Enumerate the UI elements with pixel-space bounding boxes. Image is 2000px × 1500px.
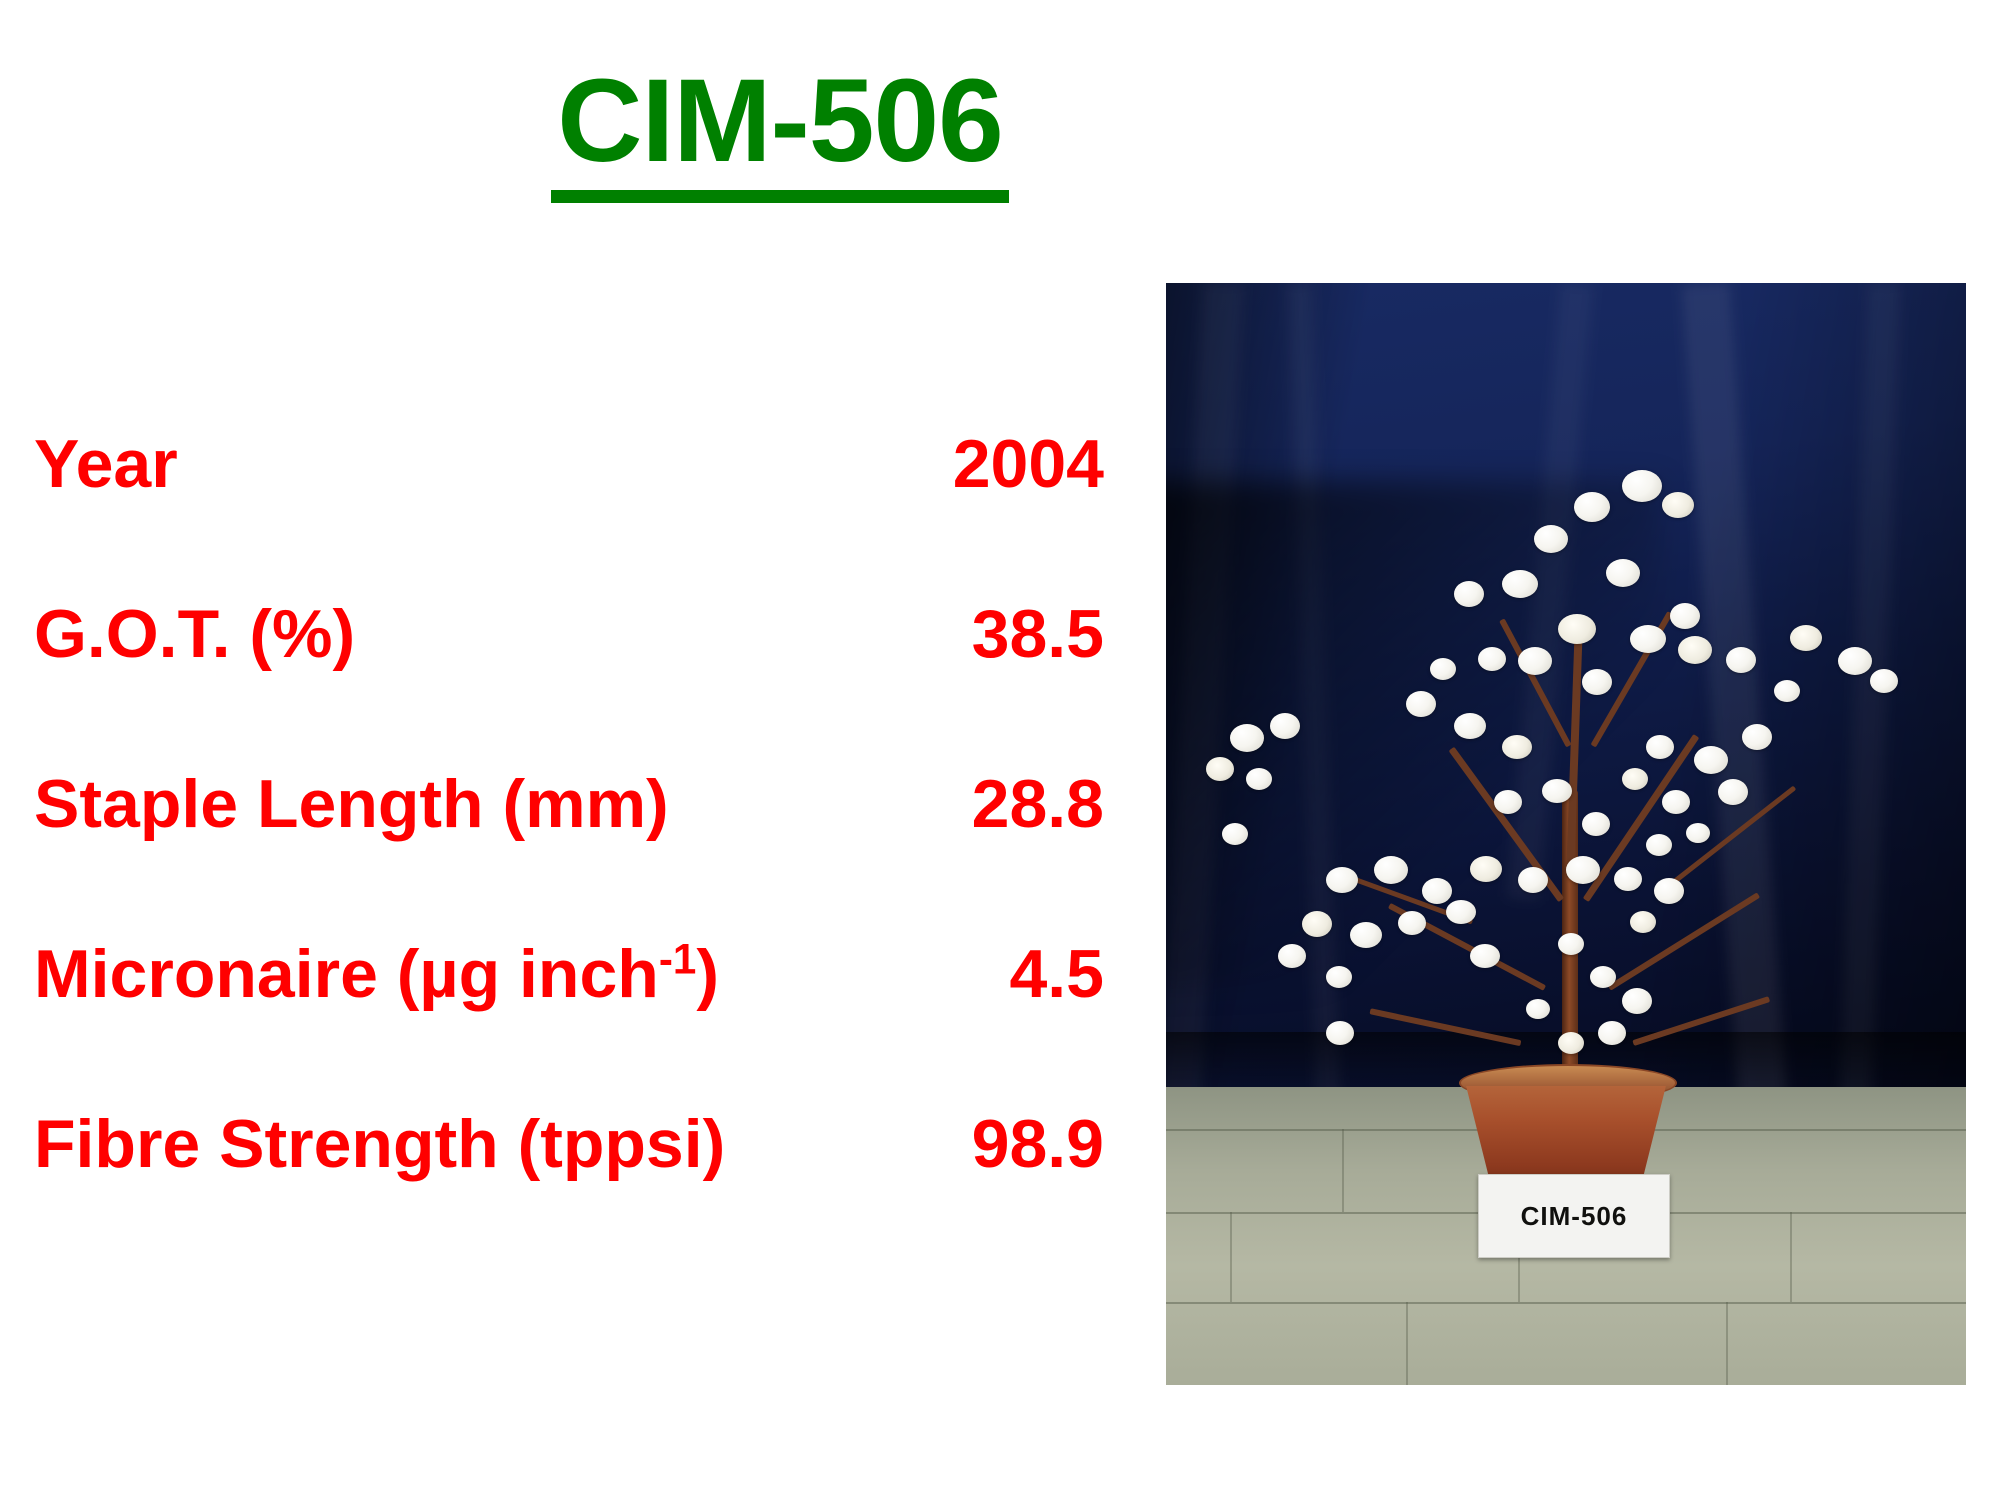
table-row: Staple Length (mm) 28.8 [34, 770, 1104, 940]
variety-label-card: CIM-506 [1478, 1174, 1670, 1258]
row-label-got: G.O.T. (%) [34, 600, 355, 668]
micronaire-label-tail: ) [696, 936, 719, 1012]
row-value-year: 2004 [953, 430, 1104, 498]
table-row: G.O.T. (%) 38.5 [34, 600, 1104, 770]
row-value-fibre-strength: 98.9 [972, 1110, 1104, 1178]
row-label-year: Year [34, 430, 178, 498]
table-row: Fibre Strength (tppsi) 98.9 [34, 1110, 1104, 1280]
row-value-got: 38.5 [972, 600, 1104, 668]
table-row: Micronaire (µg inch-1) 4.5 [34, 940, 1104, 1110]
micronaire-label-main: Micronaire (µg inch [34, 936, 659, 1012]
row-value-staple-length: 28.8 [972, 770, 1104, 838]
variety-label-text: CIM-506 [1521, 1201, 1628, 1232]
row-value-micronaire: 4.5 [1009, 940, 1104, 1008]
row-label-fibre-strength: Fibre Strength (tppsi) [34, 1110, 725, 1178]
row-label-micronaire: Micronaire (µg inch-1) [34, 940, 719, 1008]
micronaire-label-superscript: -1 [659, 935, 696, 982]
cotton-plant-photo: CIM-506 [1166, 283, 1966, 1385]
title-block: CIM-506 [0, 60, 1560, 203]
row-label-staple-length: Staple Length (mm) [34, 770, 669, 838]
slide-canvas: CIM-506 Year 2004 G.O.T. (%) 38.5 Staple… [0, 0, 2000, 1500]
variety-attributes-table: Year 2004 G.O.T. (%) 38.5 Staple Length … [34, 430, 1104, 1280]
table-row: Year 2004 [34, 430, 1104, 600]
page-title: CIM-506 [551, 60, 1008, 203]
